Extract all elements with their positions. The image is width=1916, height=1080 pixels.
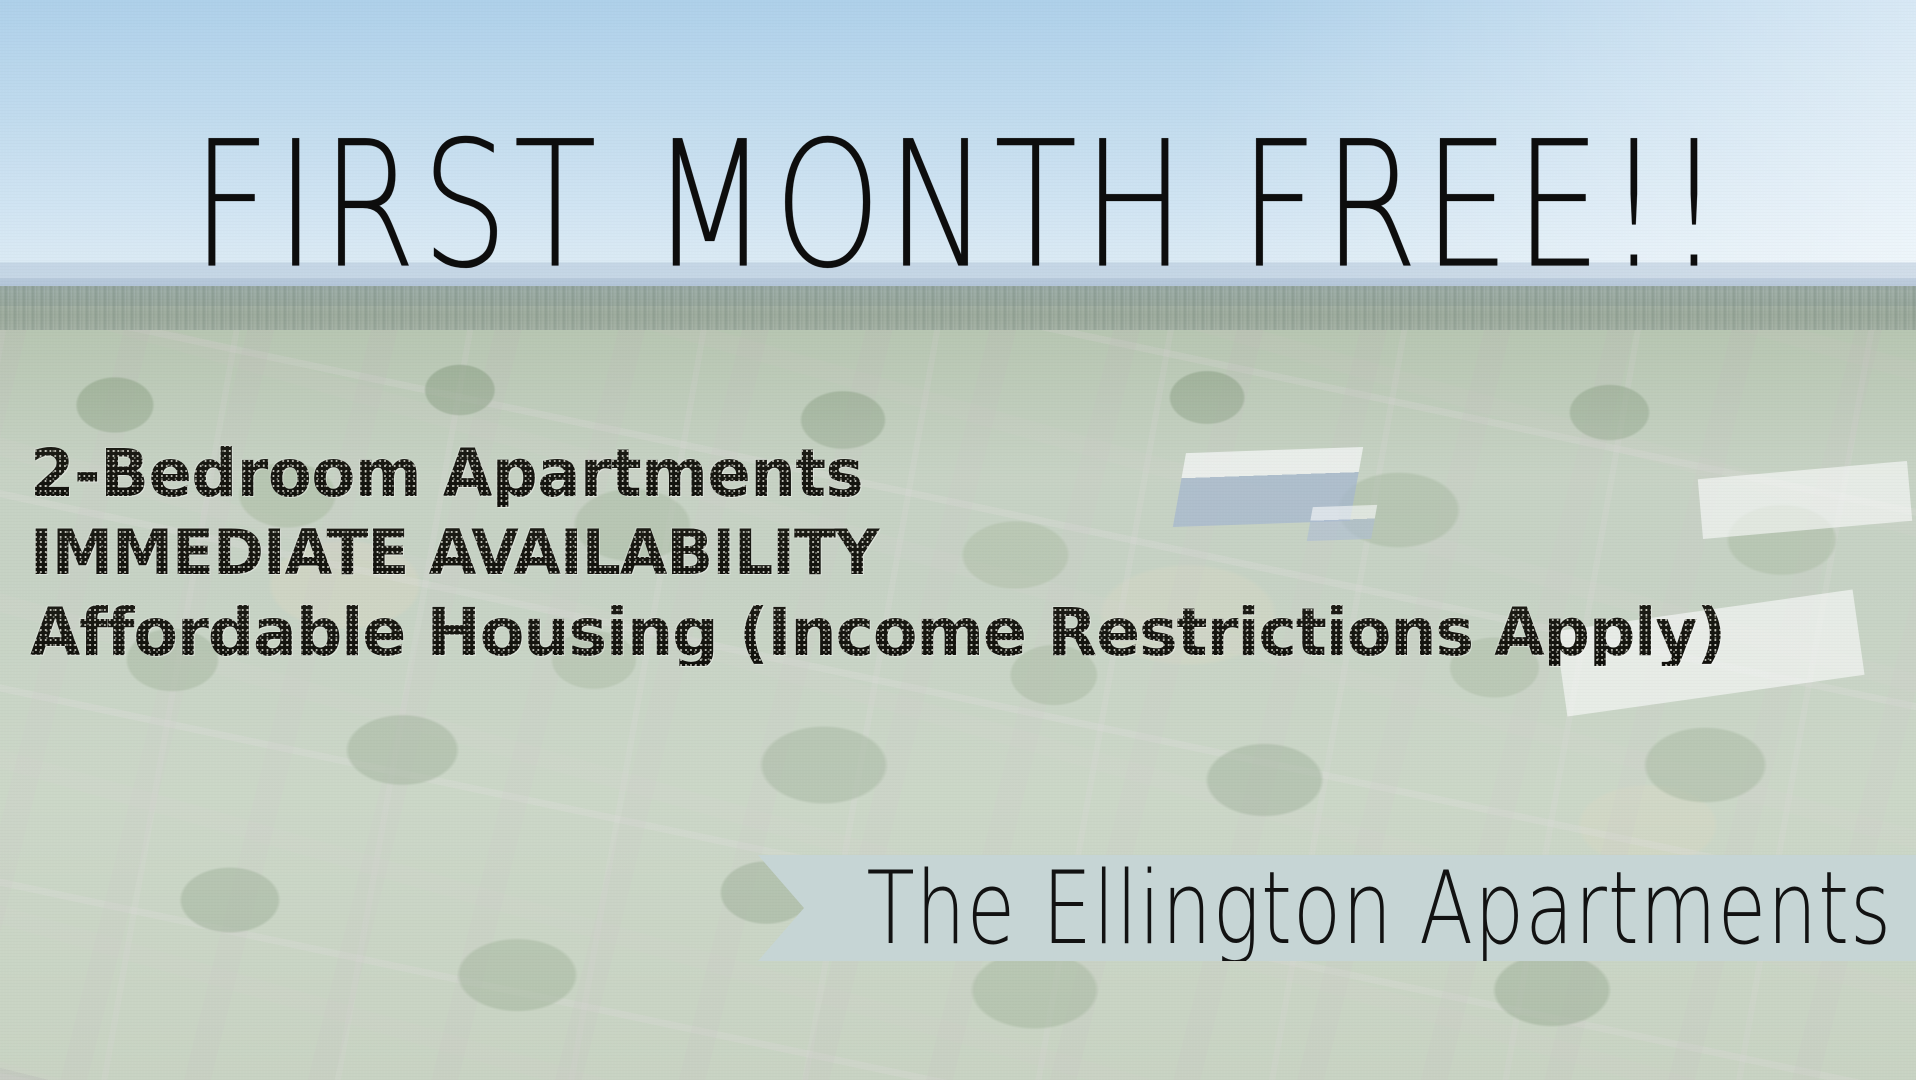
offer-line-availability: IMMEDIATE AVAILABILITY (30, 521, 1871, 584)
offer-line-affordable-housing: Affordable Housing (Income Restrictions … (30, 599, 1862, 666)
apartment-advertisement-flyer: FIRST MONTH FREE!! 2-Bedroom Apartments … (0, 0, 1916, 1080)
property-name: The Ellington Apartments (866, 858, 1892, 959)
page-title: FIRST MONTH FREE!! (78, 118, 1872, 293)
property-name-banner: The Ellington Apartments (758, 855, 1916, 961)
offer-details-block: 2-Bedroom Apartments IMMEDIATE AVAILABIL… (30, 440, 1890, 680)
offer-line-bedroom-type: 2-Bedroom Apartments (30, 440, 1834, 507)
